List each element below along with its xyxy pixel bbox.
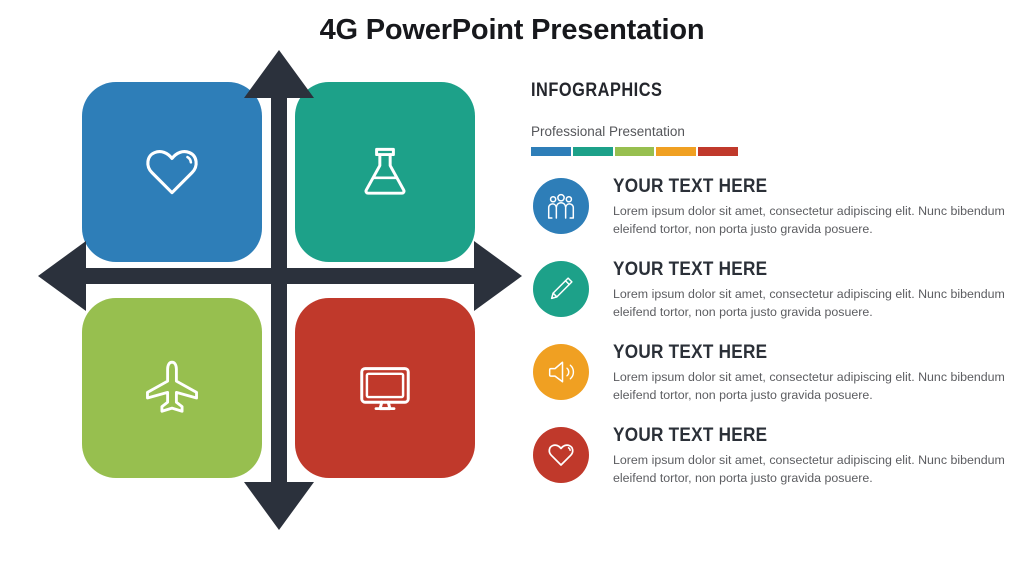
airplane-icon — [141, 357, 203, 419]
list-item-text: YOUR TEXT HERE Lorem ipsum dolor sit ame… — [613, 257, 1011, 321]
list-item-text: YOUR TEXT HERE Lorem ipsum dolor sit ame… — [613, 174, 1011, 238]
list-item[interactable]: YOUR TEXT HERE Lorem ipsum dolor sit ame… — [531, 174, 1011, 257]
infographics-subheading: Professional Presentation — [531, 124, 1011, 139]
color-bar-segment-1 — [531, 147, 571, 156]
infographics-panel: INFOGRAPHICS Professional Presentation — [531, 80, 1011, 506]
quadrant-tile-bottom-right[interactable] — [295, 298, 475, 478]
pencil-icon — [533, 261, 589, 317]
list-item-title: YOUR TEXT HERE — [613, 175, 963, 198]
list-item[interactable]: YOUR TEXT HERE Lorem ipsum dolor sit ame… — [531, 257, 1011, 340]
quadrant-tile-top-left[interactable] — [82, 82, 262, 262]
heart-icon — [533, 427, 589, 483]
group-people-icon — [533, 178, 589, 234]
list-item-body: Lorem ipsum dolor sit amet, consectetur … — [613, 452, 1005, 487]
list-item-text: YOUR TEXT HERE Lorem ipsum dolor sit ame… — [613, 423, 1011, 487]
color-bar-segment-2 — [573, 147, 613, 156]
infographics-list: YOUR TEXT HERE Lorem ipsum dolor sit ame… — [531, 174, 1011, 506]
flask-icon — [354, 141, 416, 203]
color-bar-segment-4 — [656, 147, 696, 156]
list-item-body: Lorem ipsum dolor sit amet, consectetur … — [613, 369, 1005, 404]
color-bar-segment-3 — [615, 147, 655, 156]
speaker-icon — [533, 344, 589, 400]
list-item-body: Lorem ipsum dolor sit amet, consectetur … — [613, 286, 1005, 321]
list-item-title: YOUR TEXT HERE — [613, 258, 963, 281]
color-bar — [531, 147, 738, 156]
quadrant-tile-bottom-left[interactable] — [82, 298, 262, 478]
quadrant-diagram — [30, 50, 530, 530]
infographics-heading: INFOGRAPHICS — [531, 80, 944, 102]
list-item-body: Lorem ipsum dolor sit amet, consectetur … — [613, 203, 1005, 238]
heart-icon — [141, 141, 203, 203]
list-item[interactable]: YOUR TEXT HERE Lorem ipsum dolor sit ame… — [531, 340, 1011, 423]
list-item-title: YOUR TEXT HERE — [613, 341, 963, 364]
list-item[interactable]: YOUR TEXT HERE Lorem ipsum dolor sit ame… — [531, 423, 1011, 506]
list-item-text: YOUR TEXT HERE Lorem ipsum dolor sit ame… — [613, 340, 1011, 404]
list-item-title: YOUR TEXT HERE — [613, 424, 963, 447]
color-bar-segment-5 — [698, 147, 738, 156]
quadrant-tile-top-right[interactable] — [295, 82, 475, 262]
page-title: 4G PowerPoint Presentation — [0, 14, 1024, 47]
monitor-icon — [354, 357, 416, 419]
